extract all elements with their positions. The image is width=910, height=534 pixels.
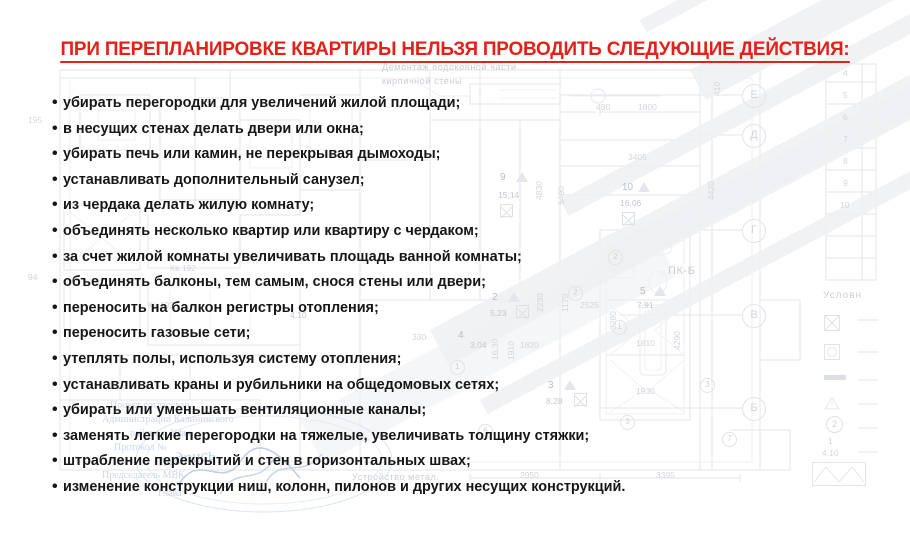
bullet-marker: • bbox=[52, 423, 63, 449]
bullet-marker: • bbox=[52, 269, 63, 295]
bullet-marker: • bbox=[52, 295, 63, 321]
bullet-marker: • bbox=[52, 346, 63, 372]
list-item: • объединять балконы, тем самым, снося с… bbox=[52, 269, 852, 295]
list-item: • изменение конструкции ниш, колонн, пил… bbox=[52, 474, 852, 500]
bullet-marker: • bbox=[52, 218, 63, 244]
page-title-text: ПРИ ПЕРЕПЛАНИРОВКЕ КВАРТИРЫ НЕЛЬЗЯ ПРОВО… bbox=[61, 38, 850, 63]
bullet-marker: • bbox=[52, 474, 63, 500]
bullet-marker: • bbox=[52, 320, 63, 346]
list-item: • заменять легкие перегородки на тяжелые… bbox=[52, 423, 852, 449]
page-title: ПРИ ПЕРЕПЛАНИРОВКЕ КВАРТИРЫ НЕЛЬЗЯ ПРОВО… bbox=[14, 38, 897, 61]
bullet-marker: • bbox=[52, 372, 63, 398]
list-item-label: устанавливать краны и рубильники на обще… bbox=[63, 372, 499, 398]
list-item: • устанавливать дополнительный санузел; bbox=[52, 167, 852, 193]
list-item-label: переносить газовые сети; bbox=[63, 320, 250, 346]
list-item: • утеплять полы, используя систему отопл… bbox=[52, 346, 852, 372]
list-item-label: убирать перегородки для увеличений жилой… bbox=[63, 90, 460, 116]
bullet-marker: • bbox=[52, 167, 63, 193]
list-item-label: штрабление перекрытий и стен в горизонта… bbox=[63, 448, 471, 474]
list-item-label: объединять несколько квартир или квартир… bbox=[63, 218, 479, 244]
list-item-label: за счет жилой комнаты увеличивать площад… bbox=[63, 244, 522, 270]
bullet-marker: • bbox=[52, 244, 63, 270]
list-item-label: убирать или уменьшать вентиляционные кан… bbox=[63, 397, 426, 423]
bullet-marker: • bbox=[52, 192, 63, 218]
restrictions-list: • убирать перегородки для увеличений жил… bbox=[52, 90, 852, 500]
list-item-label: заменять легкие перегородки на тяжелые, … bbox=[63, 423, 589, 449]
bullet-marker: • bbox=[52, 448, 63, 474]
list-item-label: из чердака делать жилую комнату; bbox=[63, 192, 314, 218]
bullet-marker: • bbox=[52, 116, 63, 142]
list-item: • убирать перегородки для увеличений жил… bbox=[52, 90, 852, 116]
list-item: • переносить газовые сети; bbox=[52, 320, 852, 346]
list-item: • устанавливать краны и рубильники на об… bbox=[52, 372, 852, 398]
bullet-marker: • bbox=[52, 397, 63, 423]
list-item-label: изменение конструкции ниш, колонн, пилон… bbox=[63, 474, 625, 500]
list-item-label: переносить на балкон регистры отопления; bbox=[63, 295, 379, 321]
list-item: • убирать печь или камин, не перекрывая … bbox=[52, 141, 852, 167]
bullet-marker: • bbox=[52, 90, 63, 116]
list-item-label: в несущих стенах делать двери или окна; bbox=[63, 116, 364, 142]
list-item: • из чердака делать жилую комнату; bbox=[52, 192, 852, 218]
slide-content: ПРИ ПЕРЕПЛАНИРОВКЕ КВАРТИРЫ НЕЛЬЗЯ ПРОВО… bbox=[0, 0, 910, 534]
bullet-marker: • bbox=[52, 141, 63, 167]
list-item-label: убирать печь или камин, не перекрывая ды… bbox=[63, 141, 440, 167]
list-item: • штрабление перекрытий и стен в горизон… bbox=[52, 448, 852, 474]
list-item: • за счет жилой комнаты увеличивать площ… bbox=[52, 244, 852, 270]
list-item: • убирать или уменьшать вентиляционные к… bbox=[52, 397, 852, 423]
list-item: • в несущих стенах делать двери или окна… bbox=[52, 116, 852, 142]
list-item-label: объединять балконы, тем самым, снося сте… bbox=[63, 269, 486, 295]
slide-root: Демонтаж подоконной части кирпичной стен… bbox=[0, 0, 910, 534]
list-item: • объединять несколько квартир или кварт… bbox=[52, 218, 852, 244]
list-item-label: устанавливать дополнительный санузел; bbox=[63, 167, 365, 193]
list-item-label: утеплять полы, используя систему отоплен… bbox=[63, 346, 401, 372]
list-item: • переносить на балкон регистры отоплени… bbox=[52, 295, 852, 321]
